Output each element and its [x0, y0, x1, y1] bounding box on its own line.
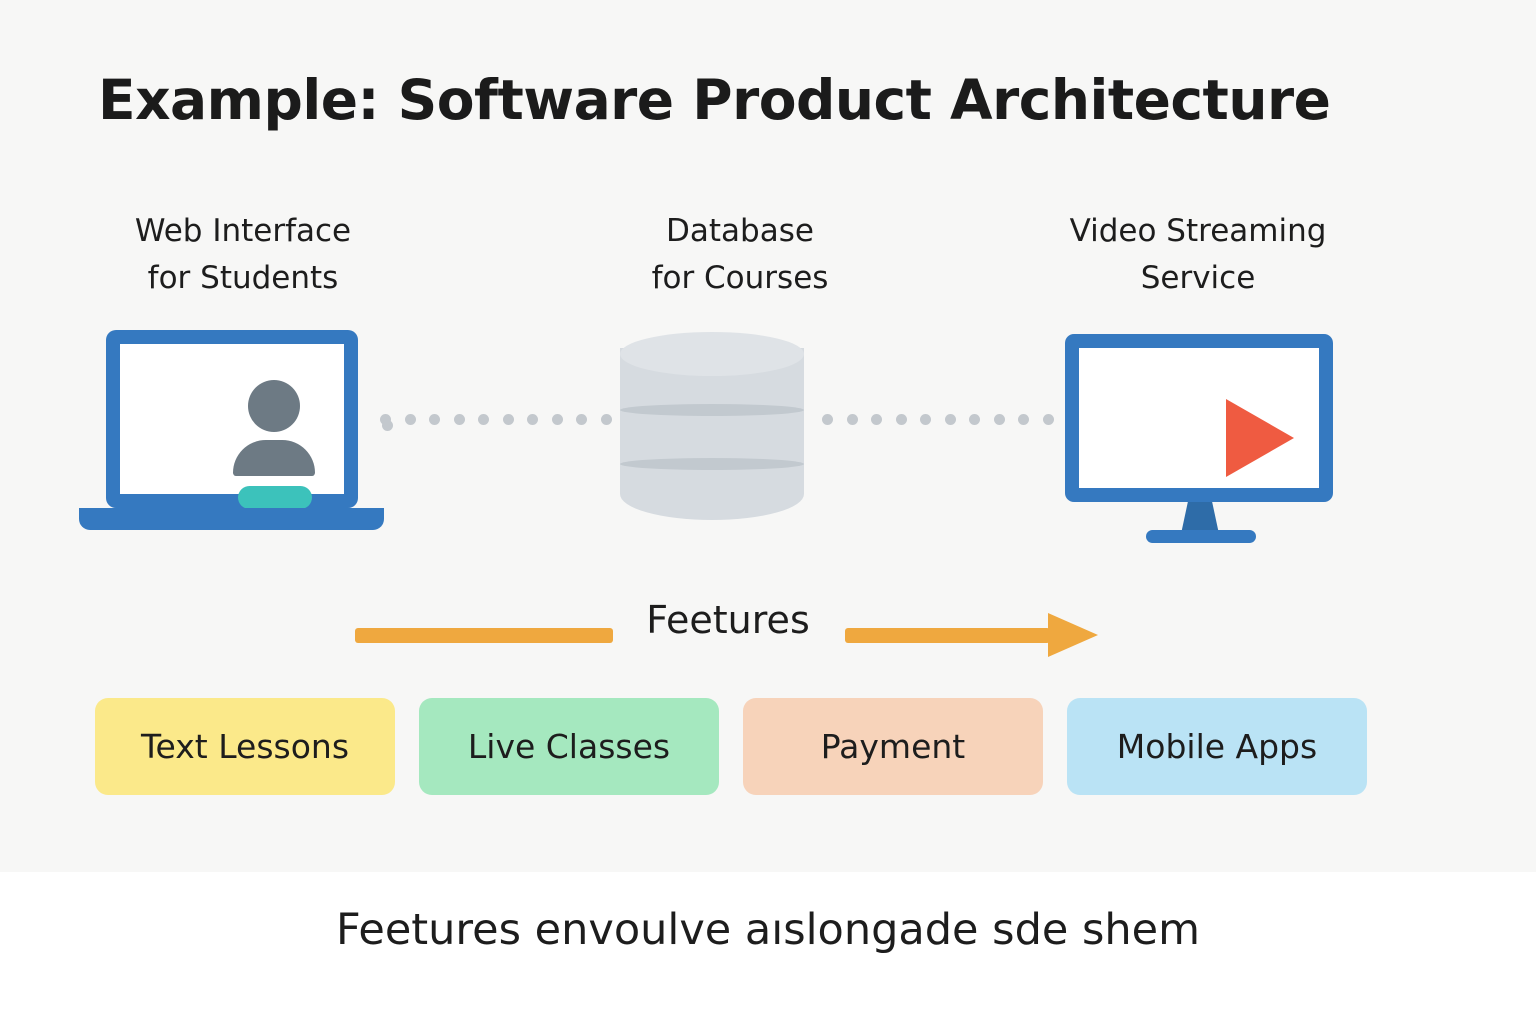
- play-triangle-icon: [1226, 399, 1294, 477]
- connector-dot: [429, 414, 440, 425]
- slide-canvas: Example: Software Product Architecture W…: [0, 0, 1536, 1024]
- connector-database-to-video: [822, 414, 1054, 425]
- connector-dot: [896, 414, 907, 425]
- database-top-ellipse: [620, 332, 804, 376]
- node-label-web-interface: Web Interface for Students: [78, 208, 408, 302]
- connector-dot: [920, 414, 931, 425]
- feature-chip-label: Payment: [821, 727, 965, 766]
- connector-dot: [994, 414, 1005, 425]
- feature-chip-label: Live Classes: [468, 727, 670, 766]
- feature-chip-mobile-apps[interactable]: Mobile Apps: [1067, 698, 1367, 795]
- laptop-screen: [106, 330, 358, 508]
- connector-dot: [871, 414, 882, 425]
- feature-chip-label: Mobile Apps: [1117, 727, 1317, 766]
- feature-chip-text-lessons[interactable]: Text Lessons: [95, 698, 395, 795]
- connector-dot: [945, 414, 956, 425]
- node-label-database: Database for Courses: [575, 208, 905, 302]
- arrow-head-icon: [1048, 613, 1098, 657]
- feature-chip-label: Text Lessons: [141, 727, 349, 766]
- connector-dot: [380, 414, 391, 425]
- node-database: Database for Courses: [575, 208, 905, 302]
- connector-dot: [969, 414, 980, 425]
- database-band: [620, 404, 804, 416]
- connector-dot: [478, 414, 489, 425]
- feature-chip-payment[interactable]: Payment: [743, 698, 1043, 795]
- database-band: [620, 458, 804, 470]
- connector-dot: [405, 414, 416, 425]
- feature-chip-row: Text Lessons Live Classes Payment Mobile…: [95, 698, 1367, 795]
- user-avatar-body-icon: [233, 440, 315, 476]
- connector-dot: [552, 414, 563, 425]
- connector-dot: [503, 414, 514, 425]
- node-video-streaming: Video Streaming Service: [1033, 208, 1363, 302]
- connector-dot: [822, 414, 833, 425]
- laptop-with-user-icon: [78, 326, 408, 546]
- feature-chip-live-classes[interactable]: Live Classes: [419, 698, 719, 795]
- monitor-screen: [1065, 334, 1333, 502]
- monitor-foot: [1146, 530, 1256, 543]
- slide-caption: Feetures envoulve aıslongade sde shem: [0, 905, 1536, 955]
- user-avatar-head-icon: [248, 380, 300, 432]
- node-label-video-streaming: Video Streaming Service: [1033, 208, 1363, 302]
- connector-dot: [1018, 414, 1029, 425]
- connector-dot: [454, 414, 465, 425]
- node-web-interface: Web Interface for Students: [78, 208, 408, 302]
- features-flow-arrow: Feetures: [0, 598, 1536, 674]
- connector-dot: [1043, 414, 1054, 425]
- arrow-line-left: [355, 628, 613, 643]
- arrow-line-right: [845, 628, 1050, 643]
- connector-dot: [601, 414, 612, 425]
- laptop-base: [79, 508, 384, 530]
- connector-dot: [527, 414, 538, 425]
- monitor-with-play-icon: [1033, 326, 1363, 546]
- arrow-label-feetures: Feetures: [613, 598, 843, 642]
- database-cylinder-icon: [620, 332, 810, 532]
- avatar-accent-bar: [238, 486, 312, 509]
- connector-web-to-database: [380, 414, 612, 425]
- connector-dot: [576, 414, 587, 425]
- connector-dot: [847, 414, 858, 425]
- page-title: Example: Software Product Architecture: [98, 68, 1330, 132]
